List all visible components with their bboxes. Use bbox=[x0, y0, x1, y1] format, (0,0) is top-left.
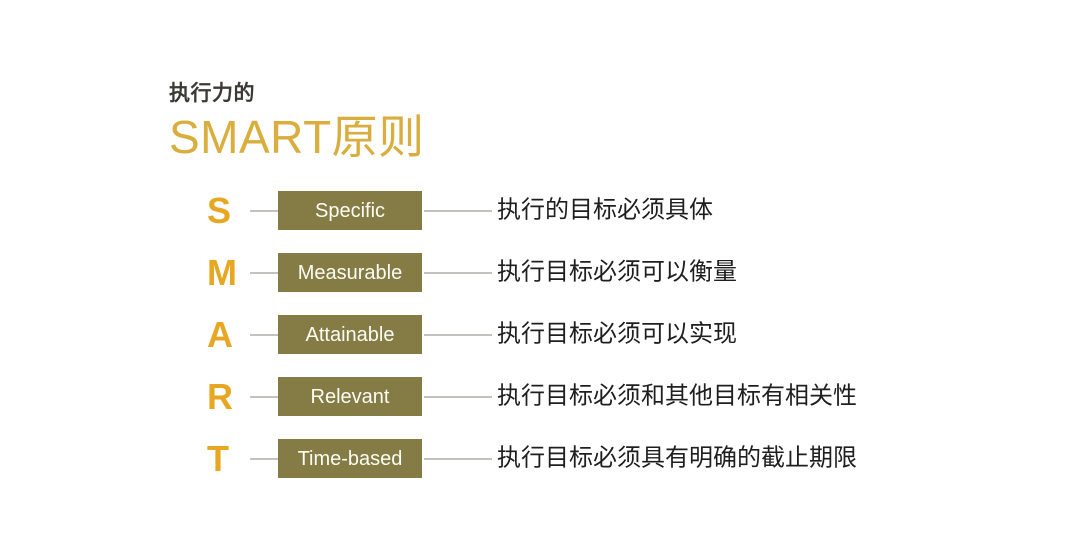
term-label: Specific bbox=[315, 201, 385, 221]
smart-principles-slide: 执行力的 SMART原则 S Specific 执行的目标必须具体 M Meas… bbox=[0, 0, 1080, 545]
row-letter-m: M bbox=[207, 255, 247, 291]
term-label: Attainable bbox=[306, 325, 395, 345]
term-box-time-based[interactable]: Time-based bbox=[278, 439, 422, 478]
heading-kicker: 执行力的 bbox=[169, 82, 425, 106]
connector-line-right bbox=[424, 458, 492, 460]
connector-line-right bbox=[424, 396, 492, 398]
row-description: 执行目标必须和其他目标有相关性 bbox=[497, 382, 857, 411]
term-box-attainable[interactable]: Attainable bbox=[278, 315, 422, 354]
term-label: Measurable bbox=[298, 263, 403, 283]
term-box-measurable[interactable]: Measurable bbox=[278, 253, 422, 292]
row-description: 执行目标必须具有明确的截止期限 bbox=[497, 444, 857, 473]
connector-line-left bbox=[250, 210, 278, 212]
connector-line-right bbox=[424, 210, 492, 212]
row-letter-a: A bbox=[207, 317, 247, 353]
connector-line-left bbox=[250, 334, 278, 336]
page-title: SMART原则 bbox=[169, 112, 425, 163]
row-letter-s: S bbox=[207, 193, 247, 229]
connector-line-left bbox=[250, 396, 278, 398]
connector-line-left bbox=[250, 458, 278, 460]
heading-block: 执行力的 SMART原则 bbox=[169, 82, 425, 163]
row-description: 执行目标必须可以实现 bbox=[497, 320, 737, 349]
connector-line-left bbox=[250, 272, 278, 274]
row-letter-r: R bbox=[207, 379, 247, 415]
term-label: Time-based bbox=[298, 449, 403, 469]
term-box-relevant[interactable]: Relevant bbox=[278, 377, 422, 416]
row-letter-t: T bbox=[207, 441, 247, 477]
connector-line-right bbox=[424, 272, 492, 274]
row-description: 执行目标必须可以衡量 bbox=[497, 258, 737, 287]
term-label: Relevant bbox=[311, 387, 390, 407]
term-box-specific[interactable]: Specific bbox=[278, 191, 422, 230]
connector-line-right bbox=[424, 334, 492, 336]
row-description: 执行的目标必须具体 bbox=[497, 196, 713, 225]
